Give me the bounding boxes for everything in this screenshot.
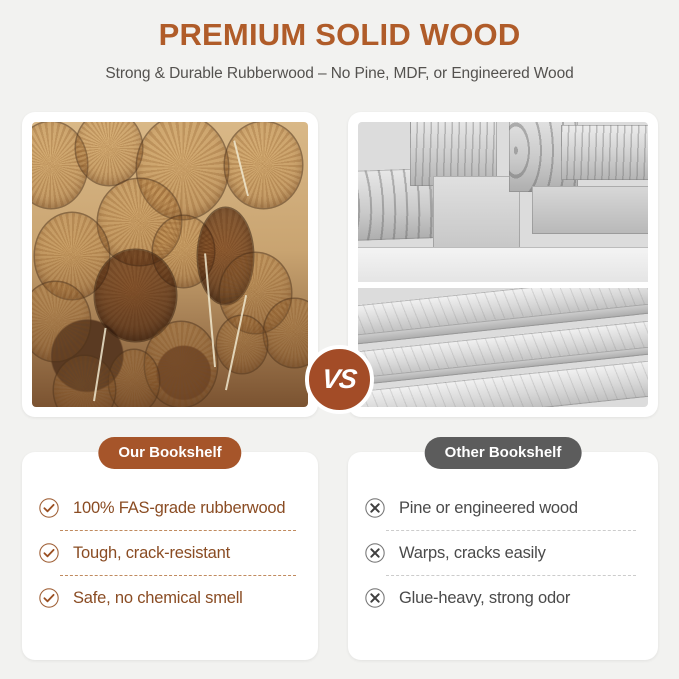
check-circle-icon (38, 542, 60, 564)
our-bookshelf-badge: Our Bookshelf (98, 437, 241, 469)
list-item-label: Warps, cracks easily (399, 544, 546, 563)
list-item: 100% FAS-grade rubberwood (38, 486, 302, 530)
list-item: Pine or engineered wood (364, 486, 642, 530)
our-wood-photo (32, 122, 308, 407)
our-wood-photo-card (22, 112, 318, 417)
check-circle-icon (38, 587, 60, 609)
list-item: Warps, cracks easily (364, 531, 642, 575)
engineered-panels-illustration (358, 288, 648, 407)
vs-badge-label: VS (321, 364, 358, 395)
log-pile-illustration (32, 122, 308, 407)
list-item-label: Glue-heavy, strong odor (399, 589, 570, 608)
list-item-label: 100% FAS-grade rubberwood (73, 499, 285, 518)
photo-comparison-row: VS (0, 112, 679, 417)
other-feature-list: Pine or engineered wood Warps, cracks ea… (364, 486, 642, 620)
page-title: PREMIUM SOLID WOOD (0, 18, 679, 52)
list-item: Safe, no chemical smell (38, 576, 302, 620)
page-subtitle: Strong & Durable Rubberwood – No Pine, M… (0, 65, 679, 83)
other-wood-photo-card (348, 112, 658, 417)
vs-badge: VS (305, 345, 374, 414)
list-item: Glue-heavy, strong odor (364, 576, 642, 620)
x-circle-icon (364, 497, 386, 519)
our-bookshelf-card: Our Bookshelf 100% FAS-grade rubberwood … (22, 452, 318, 660)
x-circle-icon (364, 542, 386, 564)
list-item: Tough, crack-resistant (38, 531, 302, 575)
header: PREMIUM SOLID WOOD Strong & Durable Rubb… (0, 0, 679, 83)
other-bookshelf-card: Other Bookshelf Pine or engineered wood … (348, 452, 658, 660)
our-feature-list: 100% FAS-grade rubberwood Tough, crack-r… (38, 486, 302, 620)
list-item-label: Tough, crack-resistant (73, 544, 230, 563)
x-circle-icon (364, 587, 386, 609)
check-circle-icon (38, 497, 60, 519)
feature-comparison-row: Our Bookshelf 100% FAS-grade rubberwood … (0, 452, 679, 667)
list-item-label: Safe, no chemical smell (73, 589, 243, 608)
list-item-label: Pine or engineered wood (399, 499, 578, 518)
other-bookshelf-badge: Other Bookshelf (425, 437, 582, 469)
other-wood-photo (358, 122, 648, 407)
lumber-beams-illustration (358, 122, 648, 282)
